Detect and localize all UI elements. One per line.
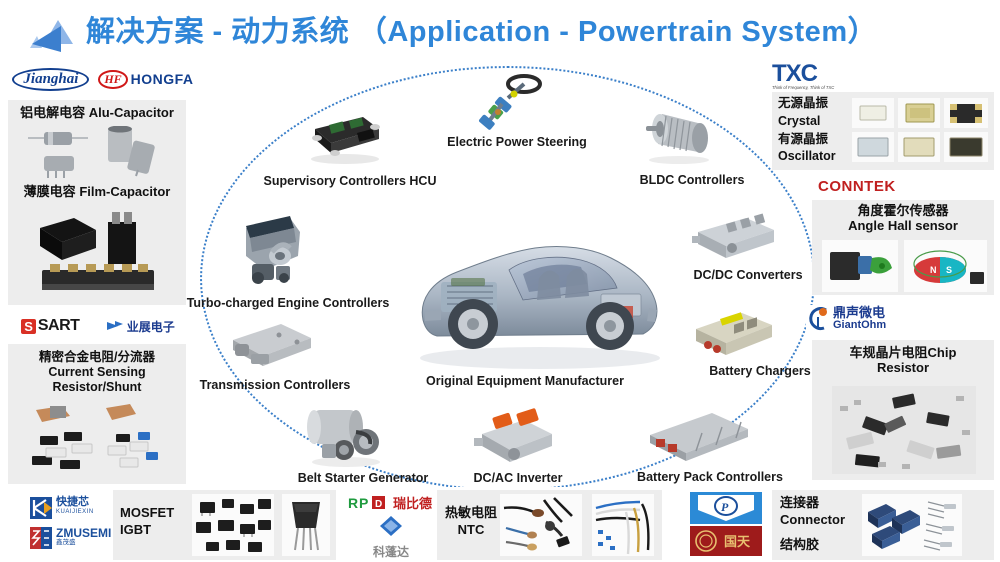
battery-pack [640, 405, 755, 467]
hall-sensor-title: 角度霍尔传感器 Angle Hall sensor [812, 200, 994, 234]
yezhan-logo: 业展电子 [106, 318, 175, 335]
resistor-panel-logos: S SART 业展电子 [8, 313, 188, 339]
alu-capacitor-title-en: Alu-Capacitor [89, 105, 174, 120]
node-turbo-charged-engine-controllers: Turbo-charged Engine Controllers [178, 296, 398, 310]
current-sensing-title-cn: 精密合金电阻/分流器 [8, 350, 186, 365]
txc-tagline: Think of Frequency, Think of TXC [772, 86, 834, 90]
node-dcac-inverter: DC/AC Inverter [458, 471, 578, 485]
svg-text:R: R [348, 495, 358, 511]
giantohm-logo: 鼎声微电 GiantOhm [806, 305, 926, 333]
conntek-logo: CONNTEK [818, 175, 928, 197]
bsg-motor [300, 398, 392, 468]
rpd-mark: R P D [348, 494, 390, 512]
hero-label-oem: Original Equipment Manufacturer [425, 374, 625, 388]
kuaijiexin-wordmark-cn: 快捷芯 [56, 497, 94, 509]
steering-column-assembly [478, 72, 550, 134]
txc-logo: TXC Think of Frequency, Think of TXC [772, 62, 858, 90]
hongfa-mark: HF [98, 70, 127, 89]
ntc-label-en: NTC [442, 522, 500, 539]
crystal-images [852, 96, 990, 166]
svg-text:P: P [359, 495, 368, 511]
ntc-label: 热敏电阻 NTC [442, 505, 500, 539]
capacitor-panel-logos: Jianghai HF HONGFA [8, 64, 198, 94]
guotian-adhesive-logo: 国天 [690, 526, 762, 561]
node-electric-power-steering: Electric Power Steering [437, 135, 597, 149]
kelongda-mark [374, 514, 408, 538]
ntc-label-cn: 热敏电阻 [442, 505, 500, 522]
alu-capacitor-images [26, 126, 168, 178]
current-sensing-title: 精密合金电阻/分流器 Current Sensing Resistor/Shun… [8, 344, 186, 394]
jianghai-logo: Jianghai [12, 68, 89, 91]
film-capacitor-title-en: Film-Capacitor [79, 184, 170, 199]
resistor-panel: 精密合金电阻/分流器 Current Sensing Resistor/Shun… [8, 344, 186, 484]
giantohm-wordmark-cn: 鼎声微电 [833, 306, 886, 320]
cutaway-car-image [405, 208, 675, 373]
slide-header: 解决方案 - 动力系统 （Application - Powertrain Sy… [0, 0, 1000, 60]
conntek-wordmark: CONNTEK [818, 178, 896, 195]
crystal-label-en-1: Crystal [778, 113, 836, 131]
kelongda-logo: 科蓬达 [356, 514, 426, 561]
svg-text:S: S [946, 265, 952, 275]
to-package-bridge-rectifier [282, 494, 330, 556]
chip-resistor-title-en: Resistor [812, 360, 994, 375]
smd-transistors-group [192, 494, 274, 556]
kuaijiexin-wordmark-en: KUAIJIEXIN [56, 509, 94, 515]
hongfa-wordmark: HONGFA [131, 71, 194, 87]
onboard-charger [690, 305, 778, 363]
page-title-en: （Application - Powertrain System） [358, 16, 877, 48]
yezhan-wordmark: 业展电子 [127, 318, 175, 335]
svg-text:N: N [930, 265, 937, 275]
crystal-label-cn-1: 无源晶振 [778, 95, 836, 113]
film-capacitor-title-cn: 薄膜电容 [24, 184, 76, 199]
chip-resistor-title: 车规晶片电阻Chip Resistor [812, 340, 994, 376]
svg-text:P: P [721, 500, 729, 514]
bldc-motor [640, 100, 718, 166]
connector-label-cn: 连接器 [780, 495, 845, 512]
connector-label-en: Connector [780, 512, 845, 529]
alu-capacitor-title: 铝电解电容 Alu-Capacitor [8, 100, 186, 120]
turbo-engine [228, 208, 316, 293]
chip-resistor-images [832, 386, 976, 474]
triangle-arrow-logo [28, 18, 86, 56]
hongfa-logo: HF HONGFA [98, 70, 193, 89]
film-capacitor-title: 薄膜电容 Film-Capacitor [8, 184, 186, 199]
node-supervisory-controllers-hcu: Supervisory Controllers HCU [250, 174, 450, 188]
sart-logo: S SART [21, 317, 79, 335]
svg-text:D: D [375, 499, 382, 510]
yezhan-mark [106, 320, 124, 332]
page-title-cn: 解决方案 - 动力系统 [86, 16, 349, 48]
slide-root: 解决方案 - 动力系统 （Application - Powertrain Sy… [0, 0, 1000, 562]
node-battery-pack-controllers: Battery Pack Controllers [625, 470, 795, 484]
hall-sensor-title-en: Angle Hall sensor [812, 218, 994, 233]
adhesive-label: 结构胶 [780, 537, 819, 554]
current-sensing-images [20, 400, 175, 480]
giantohm-mark [806, 307, 830, 331]
rpd-wordmark-cn: 瑞比德 [393, 493, 432, 512]
node-battery-chargers: Battery Chargers [700, 364, 820, 378]
zmusemi-wordmark-cn: 鑫茂盛 [56, 540, 111, 547]
inverter-orange-connectors [470, 408, 560, 470]
ntc-ring-terminal-sensors [500, 494, 582, 556]
rpd-logo: R P D 瑞比德 [348, 493, 432, 512]
kelongda-wordmark: 科蓬达 [373, 543, 409, 560]
mosfet-label: MOSFET [120, 505, 174, 522]
kuaijiexin-logo: 快捷芯 KUAIJIEXIN [30, 495, 108, 526]
chip-resistor-title-cn: 车规晶片电阻Chip [812, 345, 994, 360]
node-dcdc-converters: DC/DC Converters [678, 268, 818, 282]
connector-exploded-view [862, 494, 962, 556]
alu-capacitor-title-cn: 铝电解电容 [20, 105, 85, 120]
sart-mark: S [21, 319, 36, 334]
igbt-label: IGBT [120, 522, 174, 539]
hall-sensor-panel: 角度霍尔传感器 Angle Hall sensor N S [812, 200, 994, 295]
ecu-black-module [305, 105, 385, 167]
hall-sensor-title-cn: 角度霍尔传感器 [812, 203, 994, 218]
bottom-supplier-strip: 快捷芯 KUAIJIEXIN ZMUSEMI 鑫茂盛 MOSFET IGBT [0, 487, 1000, 562]
zmusemi-logo: ZMUSEMI 鑫茂盛 [30, 525, 108, 556]
film-capacitor-images [34, 204, 164, 299]
page-title: 解决方案 - 动力系统 （Application - Powertrain Sy… [86, 8, 877, 50]
ntc-wire-harness-sensors [592, 494, 654, 556]
mosfet-igbt-label: MOSFET IGBT [120, 505, 174, 539]
giantohm-wordmark-en: GiantOhm [833, 320, 886, 332]
crystal-panel-labels: 无源晶振 Crystal 有源晶振 Oscillator [778, 95, 836, 166]
crystal-label-en-2: Oscillator [778, 148, 836, 166]
node-belt-starter-generator: Belt Starter Generator [288, 471, 438, 485]
connector-brand-logo: P [690, 492, 762, 529]
crystal-panel: 无源晶振 Crystal 有源晶振 Oscillator [772, 92, 994, 170]
svg-text:国天: 国天 [724, 534, 751, 549]
chip-resistor-panel: 车规晶片电阻Chip Resistor [812, 340, 994, 480]
connector-label: 连接器 Connector [780, 495, 845, 529]
txc-wordmark: TXC [772, 62, 834, 86]
sart-wordmark: SART [38, 317, 80, 335]
dcdc-converter-box [690, 210, 780, 268]
capacitor-panel: 铝电解电容 Alu-Capacitor 薄膜电容 Film-Capacitor [8, 100, 186, 305]
node-transmission-controllers: Transmission Controllers [190, 378, 360, 392]
tcu-module [225, 318, 317, 376]
node-bldc-controllers: BLDC Controllers [612, 173, 772, 187]
current-sensing-title-en2: Resistor/Shunt [8, 380, 186, 395]
current-sensing-title-en1: Current Sensing [8, 365, 186, 380]
hall-sensor-images: N S [822, 240, 987, 292]
crystal-label-cn-2: 有源晶振 [778, 131, 836, 149]
zmusemi-wordmark: ZMUSEMI [56, 527, 111, 540]
